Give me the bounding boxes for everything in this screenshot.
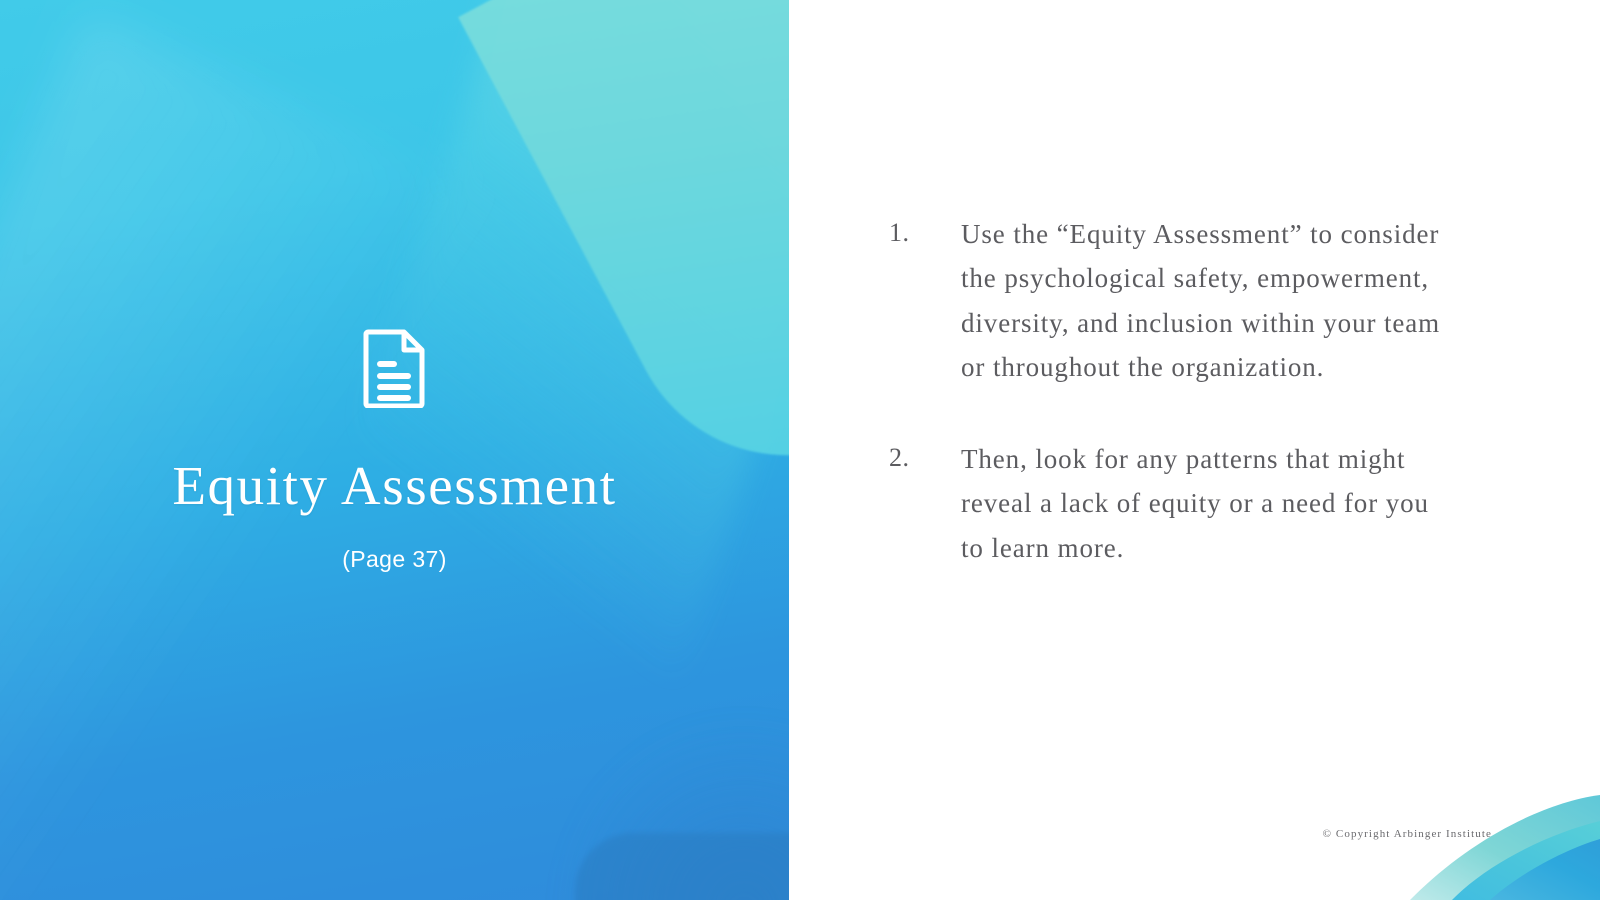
page-title: Equity Assessment xyxy=(172,458,616,513)
list-item-marker: 1. xyxy=(889,212,910,255)
list-item: 2. Then, look for any patterns that migh… xyxy=(889,437,1449,570)
page-subtitle: (Page 37) xyxy=(342,546,447,573)
slide: Equity Assessment (Page 37) 1. Use the “… xyxy=(0,0,1600,900)
list-item-marker: 2. xyxy=(889,437,910,480)
right-content-panel: 1. Use the “Equity Assessment” to consid… xyxy=(789,0,1600,900)
instructions-list: 1. Use the “Equity Assessment” to consid… xyxy=(889,212,1449,570)
corner-swoosh-decoration xyxy=(1370,795,1600,900)
copyright-notice: © Copyright Arbinger Institute xyxy=(1323,828,1492,840)
list-item-text: Then, look for any patterns that might r… xyxy=(961,444,1429,563)
left-gradient-panel: Equity Assessment (Page 37) xyxy=(0,0,789,900)
list-item-text: Use the “Equity Assessment” to consider … xyxy=(961,219,1440,382)
document-lines-icon xyxy=(362,328,428,408)
list-item: 1. Use the “Equity Assessment” to consid… xyxy=(889,212,1449,389)
left-panel-content: Equity Assessment (Page 37) xyxy=(0,0,789,900)
